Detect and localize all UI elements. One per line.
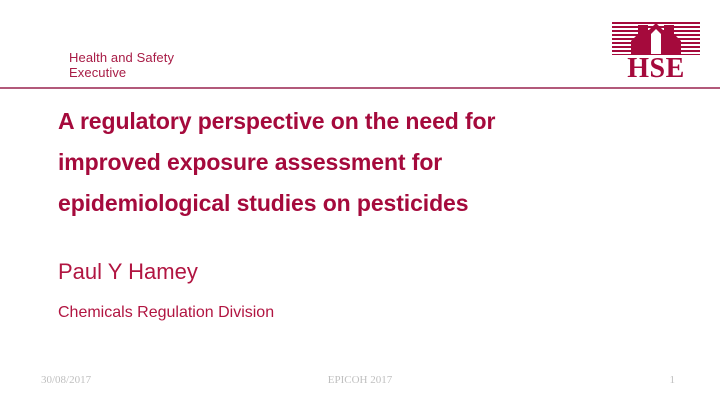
author-division: Chemicals Regulation Division: [58, 303, 274, 323]
presentation-slide: Health and Safety Executive HSE A regula…: [0, 0, 720, 405]
slide-title-line-3: epidemiological studies on pesticides: [58, 183, 658, 224]
hse-wordmark: HSE: [612, 55, 700, 82]
organisation-name: Health and Safety Executive: [69, 50, 174, 80]
footer-event-name: EPICOH 2017: [0, 374, 720, 386]
header-divider: [0, 87, 720, 89]
footer-page-number: 1: [670, 374, 676, 386]
author-name: Paul Y Hamey: [58, 258, 198, 286]
hse-logo: HSE: [612, 22, 700, 80]
hse-chevron-logo-icon: [612, 22, 700, 55]
slide-title: A regulatory perspective on the need for…: [58, 101, 658, 224]
slide-title-line-1: A regulatory perspective on the need for: [58, 101, 658, 142]
slide-footer: 30/08/2017 EPICOH 2017 1: [0, 374, 720, 390]
slide-title-line-2: improved exposure assessment for: [58, 142, 658, 183]
chevron-icon: [630, 22, 682, 55]
